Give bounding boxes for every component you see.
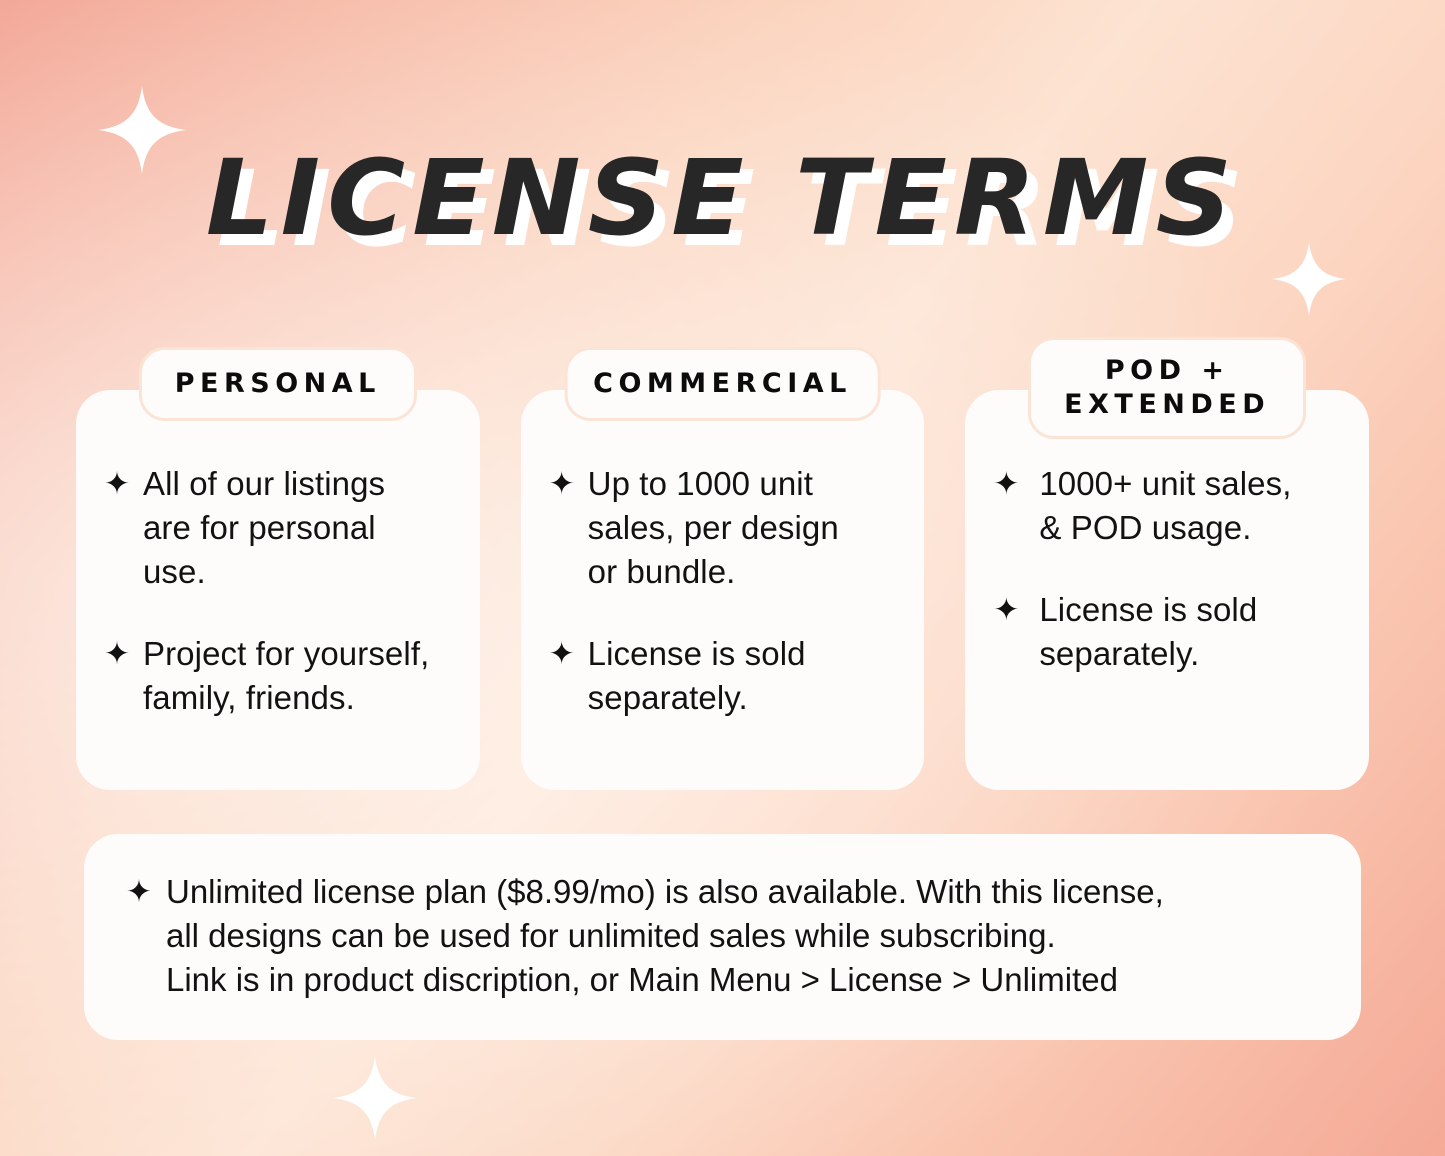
bullet-list-personal: ✦ All of our listings are for personal u… [104, 462, 454, 720]
bullet-list-pod-extended: ✦ 1000+ unit sales, & POD usage. ✦ Licen… [993, 462, 1343, 676]
sparkle-bullet-icon: ✦ [126, 870, 152, 914]
sparkle-icon [333, 1056, 417, 1140]
card-tab-personal: PERSONAL [139, 347, 417, 421]
list-item: ✦ 1000+ unit sales, & POD usage. [993, 462, 1343, 550]
list-item: ✦ License is sold separately. [549, 632, 899, 720]
sparkle-bullet-icon: ✦ [549, 632, 575, 676]
sparkle-bullet-icon: ✦ [549, 462, 575, 506]
bullet-text: All of our listings are for personal use… [143, 462, 385, 594]
card-tab-label-personal: PERSONAL [168, 367, 388, 401]
unlimited-plan-banner: ✦ Unlimited license plan ($8.99/mo) is a… [84, 834, 1361, 1040]
card-tab-label-pod-extended: POD + EXTENDED [1057, 354, 1277, 422]
bullet-text: License is sold separately. [1039, 588, 1257, 676]
bullet-text: Project for yourself, family, friends. [143, 632, 429, 720]
license-card-pod-extended: POD + EXTENDED ✦ 1000+ unit sales, & POD… [965, 390, 1369, 790]
list-item: ✦ License is sold separately. [993, 588, 1343, 676]
sparkle-bullet-icon: ✦ [993, 588, 1019, 632]
card-body-commercial: ✦ Up to 1000 unit sales, per design or b… [521, 462, 925, 720]
license-card-personal: PERSONAL ✦ All of our listings are for p… [76, 390, 480, 790]
card-tab-label-commercial: COMMERCIAL [593, 367, 852, 401]
card-body-pod-extended: ✦ 1000+ unit sales, & POD usage. ✦ Licen… [965, 462, 1369, 676]
sparkle-bullet-icon: ✦ [104, 462, 130, 506]
unlimited-plan-text: Unlimited license plan ($8.99/mo) is als… [166, 870, 1164, 1002]
page-title: LICENSE TERMS [206, 146, 1239, 250]
card-tab-commercial: COMMERCIAL [564, 347, 881, 421]
card-body-personal: ✦ All of our listings are for personal u… [76, 462, 480, 720]
sparkle-bullet-icon: ✦ [104, 632, 130, 676]
card-tab-pod-extended: POD + EXTENDED [1028, 337, 1306, 439]
list-item: ✦ Unlimited license plan ($8.99/mo) is a… [126, 870, 1321, 1002]
license-terms-poster: LICENSE TERMS PERSONAL ✦ All of our list… [0, 0, 1445, 1156]
page-title-container: LICENSE TERMS [0, 146, 1445, 250]
list-item: ✦ Project for yourself, family, friends. [104, 632, 454, 720]
list-item: ✦ All of our listings are for personal u… [104, 462, 454, 594]
list-item: ✦ Up to 1000 unit sales, per design or b… [549, 462, 899, 594]
bullet-list-commercial: ✦ Up to 1000 unit sales, per design or b… [549, 462, 899, 720]
bullet-text: 1000+ unit sales, & POD usage. [1039, 462, 1291, 550]
bullet-text: License is sold separately. [588, 632, 806, 720]
bullet-text: Up to 1000 unit sales, per design or bun… [588, 462, 839, 594]
license-card-commercial: COMMERCIAL ✦ Up to 1000 unit sales, per … [521, 390, 925, 790]
sparkle-icon [1272, 242, 1346, 316]
sparkle-bullet-icon: ✦ [993, 462, 1019, 506]
license-tier-cards: PERSONAL ✦ All of our listings are for p… [76, 390, 1369, 790]
